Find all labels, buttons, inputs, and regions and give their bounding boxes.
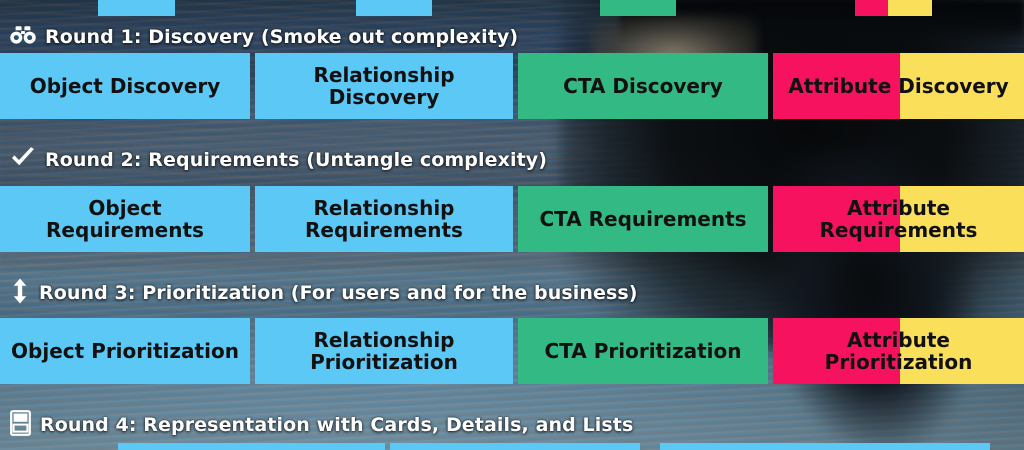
card-label-line2: Requirements [820,218,978,242]
card-label: Relationship Discovery [261,64,507,109]
card-relationship-discovery[interactable]: Relationship Discovery [255,53,513,119]
up-down-arrow-icon [10,278,30,309]
card-object-requirements[interactable]: Object Requirements [0,186,250,252]
card-label-line1: Attribute [847,328,950,352]
round-2-cards: Object Requirements Relationship Require… [0,186,1024,252]
orca-fin [711,132,1010,450]
card-cta-prioritization[interactable]: CTA Prioritization [518,318,768,384]
card-relationship-requirements[interactable]: Relationship Requirements [255,186,513,252]
round-1-header: Round 1: Discovery (Smoke out complexity… [0,22,518,52]
clipped-card-bottom-3 [660,443,990,450]
round-2-title: Round 2: Requirements (Untangle complexi… [45,151,547,170]
card-label-line2: Requirements [305,218,463,242]
card-label: CTA Requirements [539,208,746,230]
checkmark-icon [10,147,36,173]
round-4-title: Round 4: Representation with Cards, Deta… [40,416,633,435]
card-label-line2: Prioritization [310,350,458,374]
card-object-prioritization[interactable]: Object Prioritization [0,318,250,384]
card-label-line2: Prioritization [825,350,973,374]
round-3-cards: Object Prioritization Relationship Prior… [0,318,1024,384]
card-label: CTA Discovery [563,75,723,97]
card-layout-icon [10,410,31,441]
clipped-card-object [98,0,175,16]
card-label-line1: Attribute [847,196,950,220]
card-relationship-prioritization[interactable]: Relationship Prioritization [255,318,513,384]
card-cta-requirements[interactable]: CTA Requirements [518,186,768,252]
round-3-title: Round 3: Prioritization (For users and f… [39,284,638,303]
card-label-line1: Relationship [313,328,454,352]
card-label: Object Prioritization [11,340,239,362]
clipped-card-attribute-pink [855,0,888,16]
clipped-card-relationship [356,0,432,16]
card-label: CTA Prioritization [545,340,742,362]
card-attribute-prioritization[interactable]: Attribute Prioritization [773,318,1024,384]
card-label: Object Requirements [6,197,244,242]
clipped-card-cta [600,0,676,16]
clipped-row-top [0,0,1024,16]
round-4-header: Round 4: Representation with Cards, Deta… [0,410,633,440]
card-attribute-requirements[interactable]: Attribute Requirements [773,186,1024,252]
card-attribute-discovery[interactable]: Attribute Discovery [773,53,1024,119]
card-label: Attribute Discovery [788,75,1008,97]
binoculars-icon [10,25,36,50]
clipped-row-bottom [0,443,1024,450]
round-1-title: Round 1: Discovery (Smoke out complexity… [45,28,518,47]
clipped-card-bottom-1 [118,443,385,450]
round-1-cards: Object Discovery Relationship Discovery … [0,53,1024,119]
card-object-discovery[interactable]: Object Discovery [0,53,250,119]
card-cta-discovery[interactable]: CTA Discovery [518,53,768,119]
round-3-header: Round 3: Prioritization (For users and f… [0,278,638,308]
round-2-header: Round 2: Requirements (Untangle complexi… [0,145,547,175]
card-label-line1: Relationship [313,196,454,220]
card-label-multiline: Attribute Requirements [820,197,978,242]
card-label-multiline: Relationship Requirements [305,197,463,242]
slide-canvas: Round 1: Discovery (Smoke out complexity… [0,0,1024,450]
card-label: Object Discovery [30,75,221,97]
card-label-multiline: Relationship Prioritization [310,329,458,374]
card-label-multiline: Attribute Prioritization [825,329,973,374]
clipped-card-bottom-2 [390,443,640,450]
clipped-card-attribute-yellow [888,0,932,16]
